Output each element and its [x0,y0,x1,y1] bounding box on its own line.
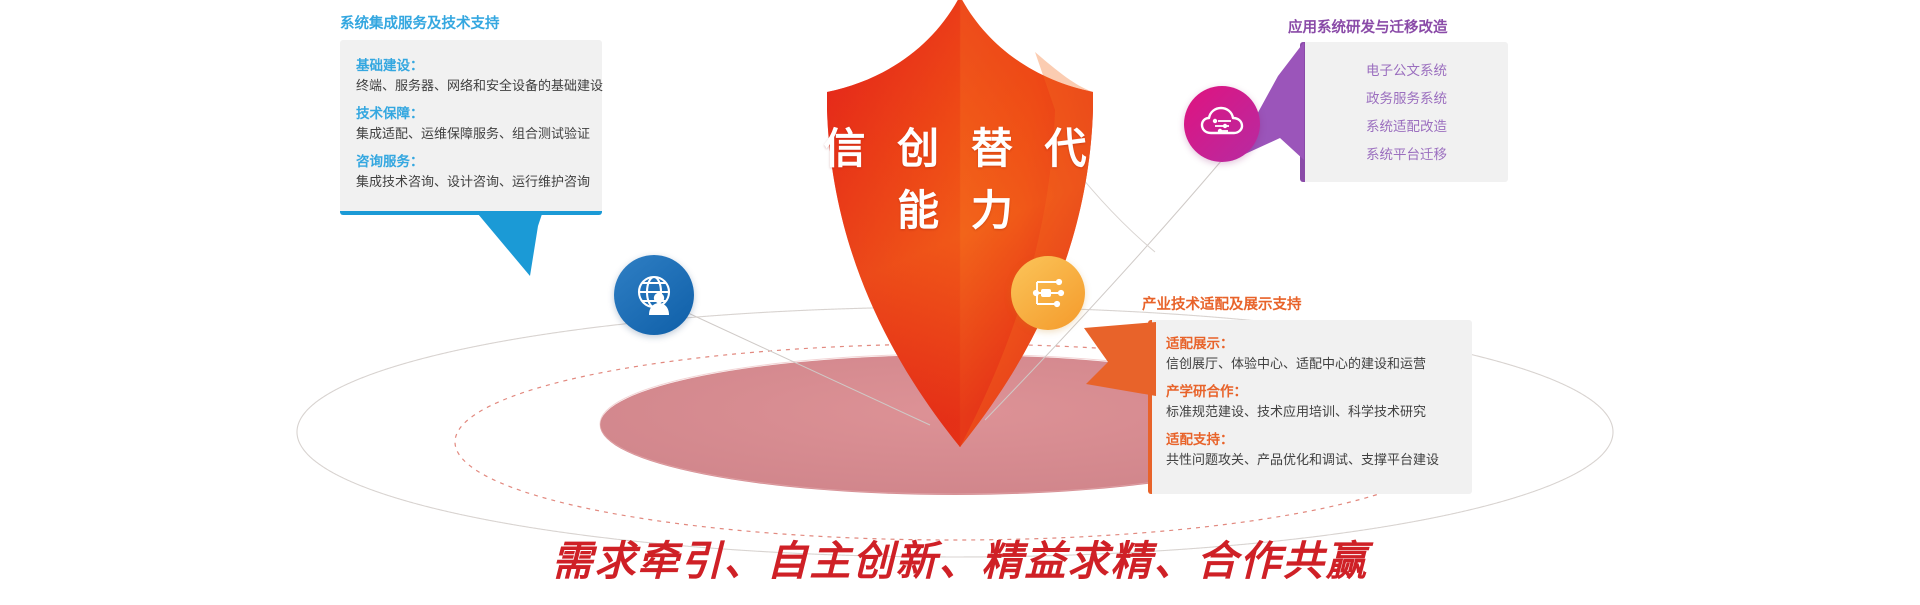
shield-headline-line1: 信 创 替 代 [823,125,1096,172]
right-list-item-1: 电子公文系统 [1305,57,1508,85]
left-section-3: 咨询服务： 集成技术咨询、设计咨询、运行维护咨询 [356,152,602,191]
infographic-canvas: 信 创 替 代 能 力 系统集成服务及技术支持 基础建设： 终端、服务器、网络和… [0,0,1920,605]
globe-user-icon [614,255,694,335]
left-section-2: 技术保障： 集成适配、运维保障服务、组合测试验证 [356,104,602,143]
right-panel-list: 电子公文系统 政务服务系统 系统适配改造 系统平台迁移 [1305,42,1508,169]
shield-headline: 信 创 替 代 能 力 [735,118,1185,242]
cloud-circuit-icon [1184,86,1260,162]
br-section-2-body: 标准规范建设、技术应用培训、科学技术研究 [1166,402,1472,421]
left-section-2-body: 集成适配、运维保障服务、组合测试验证 [356,124,602,143]
bottom-right-panel-title: 产业技术适配及展示支持 [1142,293,1302,314]
left-panel-title: 系统集成服务及技术支持 [340,12,500,33]
right-panel-card: 电子公文系统 政务服务系统 系统适配改造 系统平台迁移 [1300,42,1508,182]
br-section-2-heading: 产学研合作： [1166,382,1472,401]
br-section-2: 产学研合作： 标准规范建设、技术应用培训、科学技术研究 [1166,382,1472,421]
br-section-1-body: 信创展厅、体验中心、适配中心的建设和运营 [1166,354,1472,373]
shield-headline-line2: 能 力 [735,180,1185,242]
br-section-3: 适配支持： 共性问题攻关、产品优化和调试、支撑平台建设 [1166,430,1472,469]
right-list-item-3: 系统适配改造 [1305,113,1508,141]
left-section-3-heading: 咨询服务： [356,152,602,171]
left-callout-pointer [478,214,568,284]
left-panel-card: 基础建设： 终端、服务器、网络和安全设备的基础建设 技术保障： 集成适配、运维保… [340,40,602,215]
left-section-1-heading: 基础建设： [356,56,602,75]
right-list-item-4: 系统平台迁移 [1305,141,1508,169]
left-section-3-body: 集成技术咨询、设计咨询、运行维护咨询 [356,172,602,191]
network-nodes-icon [1011,256,1085,330]
bottom-right-callout-pointer [1078,322,1158,402]
left-section-1: 基础建设： 终端、服务器、网络和安全设备的基础建设 [356,56,602,95]
br-section-1: 适配展示： 信创展厅、体验中心、适配中心的建设和运营 [1166,334,1472,373]
br-section-1-heading: 适配展示： [1166,334,1472,353]
left-section-1-body: 终端、服务器、网络和安全设备的基础建设 [356,76,602,95]
br-section-3-body: 共性问题攻关、产品优化和调试、支撑平台建设 [1166,450,1472,469]
right-panel-title: 应用系统研发与迁移改造 [1288,16,1448,37]
br-section-3-heading: 适配支持： [1166,430,1472,449]
bottom-right-panel-card: 适配展示： 信创展厅、体验中心、适配中心的建设和运营 产学研合作： 标准规范建设… [1148,320,1472,494]
right-list-item-2: 政务服务系统 [1305,85,1508,113]
left-section-2-heading: 技术保障： [356,104,602,123]
bottom-tagline: 需求牵引、自主创新、精益求精、合作共赢 [0,527,1920,587]
